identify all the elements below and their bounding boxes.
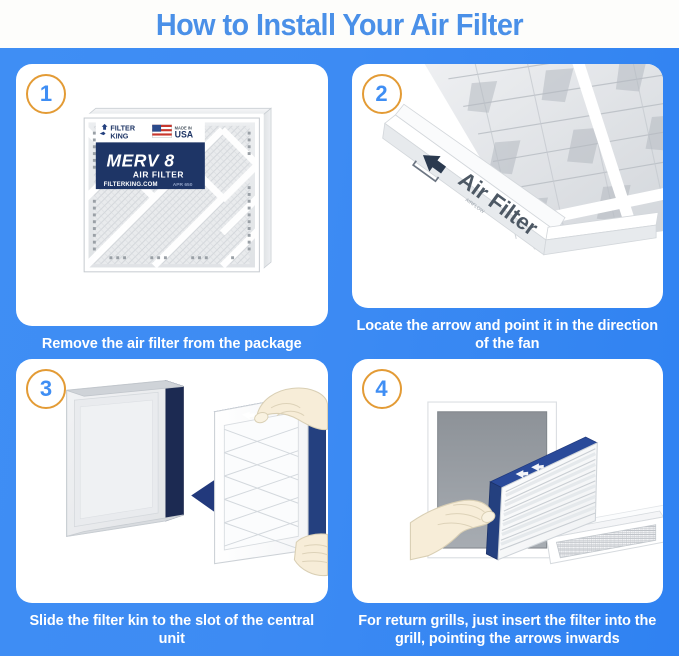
step-3-card[interactable]: 3 xyxy=(16,359,328,603)
infographic-page: How to Install Your Air Filter 1 xyxy=(0,0,679,656)
step-caption-2: Locate the arrow and point it in the dir… xyxy=(352,308,664,355)
page-title: How to Install Your Air Filter xyxy=(156,9,523,40)
step-badge-1: 1 xyxy=(26,74,66,114)
step-caption-4: For return grills, just insert the filte… xyxy=(352,603,664,650)
step-2-card[interactable]: 2 xyxy=(352,64,664,308)
usa-flag-icon xyxy=(152,125,171,138)
step-panel-4: 4 xyxy=(352,359,664,650)
product-type-label: AIR FILTER xyxy=(133,169,184,179)
step-badge-2: 2 xyxy=(362,74,402,114)
step-panel-3: 3 xyxy=(16,359,328,650)
step-panel-2: 2 xyxy=(352,64,664,355)
step-1-card[interactable]: 1 xyxy=(16,64,328,326)
steps-grid: 1 xyxy=(0,48,679,656)
step-caption-3: Slide the filter kin to the slot of the … xyxy=(16,603,328,650)
step-panel-1: 1 xyxy=(16,64,328,355)
merv-rating-label: MERV 8 xyxy=(107,151,175,171)
step-badge-4: 4 xyxy=(362,369,402,409)
step-badge-3: 3 xyxy=(26,369,66,409)
apr-rating-label: APR 650 xyxy=(173,182,193,188)
country-label: USA xyxy=(175,130,194,140)
step-caption-1: Remove the air filter from the package xyxy=(16,326,328,355)
step-4-card[interactable]: 4 xyxy=(352,359,664,603)
page-header: How to Install Your Air Filter xyxy=(0,0,679,48)
website-label: FILTERKING.COM xyxy=(104,182,158,188)
hand-bottom xyxy=(294,534,327,576)
brand-name-line2: KING xyxy=(110,131,128,140)
